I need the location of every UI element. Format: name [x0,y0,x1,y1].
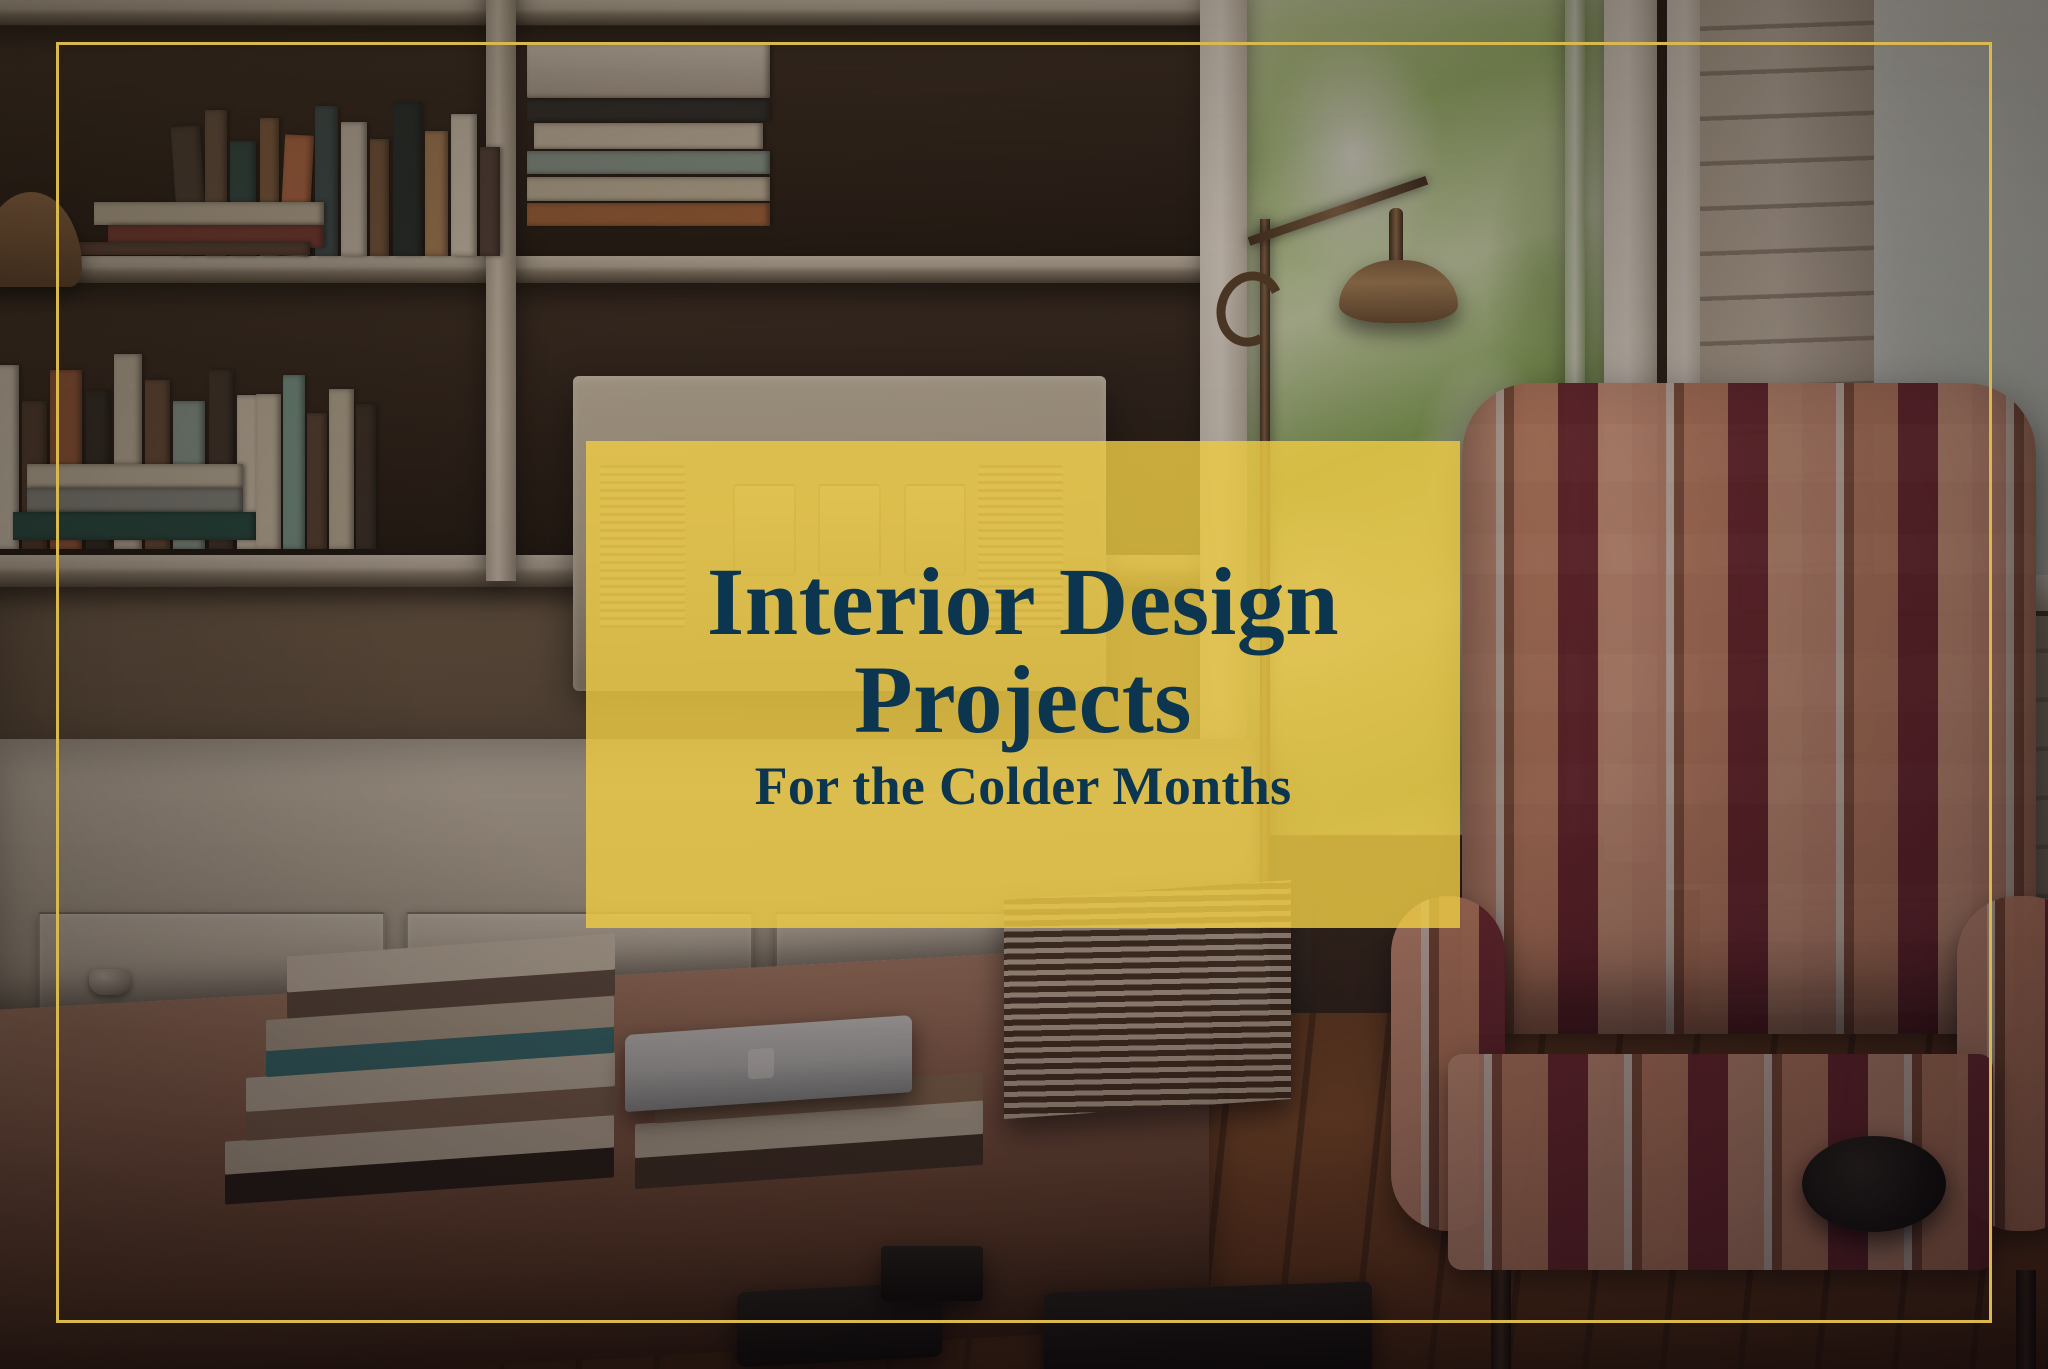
title-overlay-panel: Interior Design Projects For the Colder … [586,441,1460,928]
title-line-1: Interior Design [707,548,1339,655]
poster-title: Interior Design Projects [707,553,1339,749]
poster-canvas: Interior Design Projects For the Colder … [0,0,2048,1369]
poster-subtitle: For the Colder Months [755,757,1292,816]
title-line-2: Projects [707,651,1339,749]
